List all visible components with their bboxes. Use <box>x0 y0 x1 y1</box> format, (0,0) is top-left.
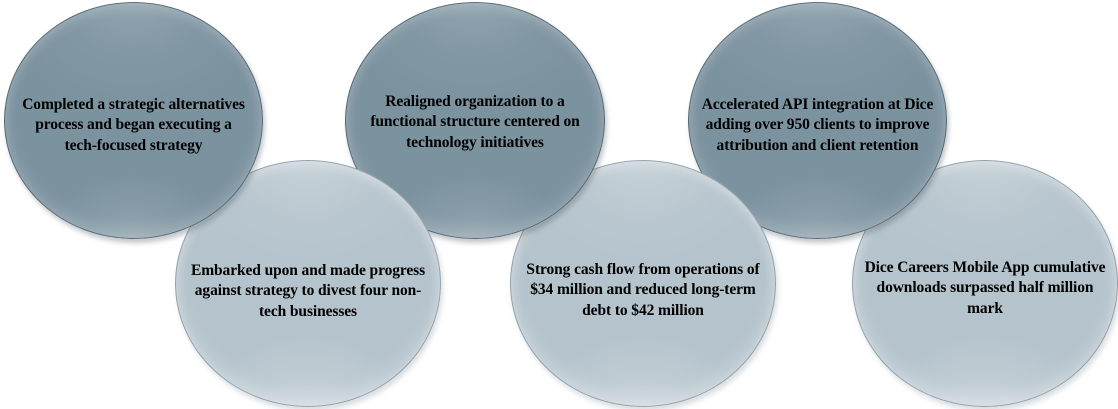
diagram-canvas: Completed a strategic alternatives proce… <box>0 0 1118 409</box>
highlight-circle-5-text: Accelerated API integration at Dice addi… <box>688 95 947 155</box>
highlight-circle-6-text: Dice Careers Mobile App cumulative downl… <box>852 258 1118 318</box>
highlight-circle-1: Completed a strategic alternatives proce… <box>4 2 263 239</box>
highlight-circle-2-text: Embarked upon and made progress against … <box>175 261 441 321</box>
highlight-circle-3-text: Realigned organization to a functional s… <box>345 92 605 152</box>
highlight-circle-1-text: Completed a strategic alternatives proce… <box>4 95 263 155</box>
highlight-circle-4-text: Strong cash flow from operations of $34 … <box>510 260 776 320</box>
